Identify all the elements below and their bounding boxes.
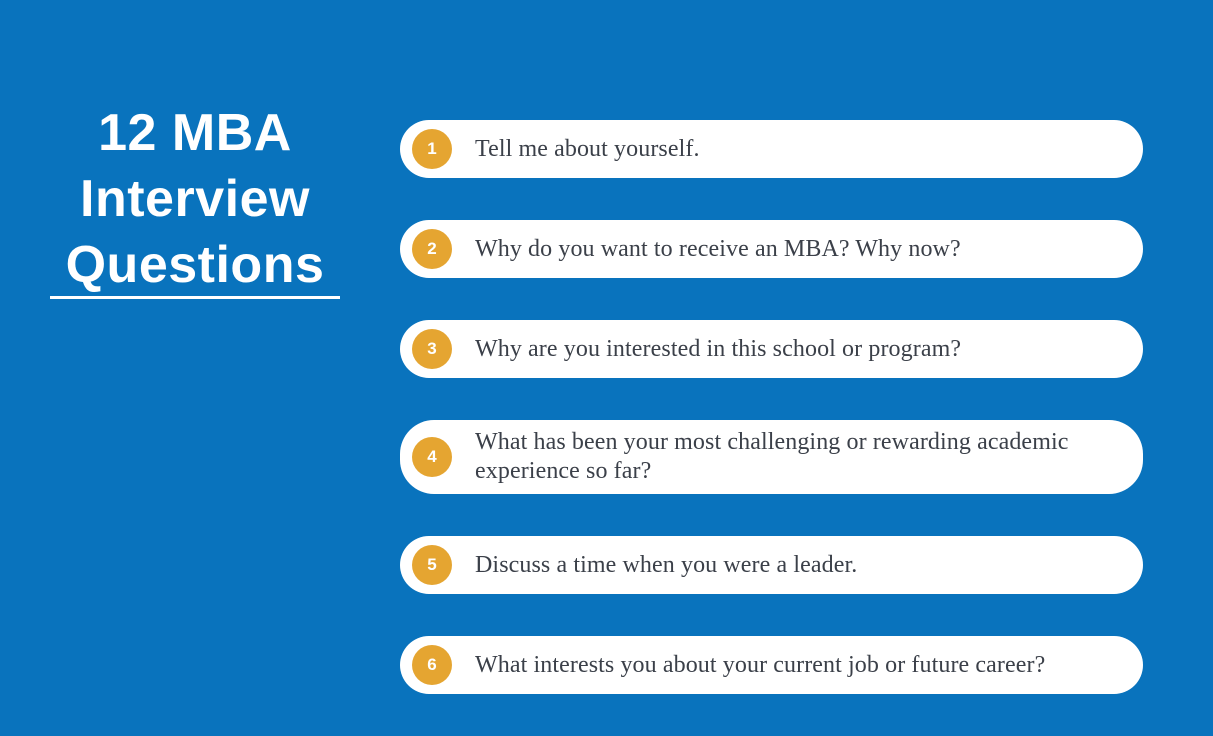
question-number-badge: 4 — [412, 437, 452, 477]
question-number-badge: 2 — [412, 229, 452, 269]
question-text: What interests you about your current jo… — [475, 651, 1109, 680]
question-text: Tell me about yourself. — [475, 135, 1109, 164]
question-card[interactable]: 1 Tell me about yourself. — [400, 120, 1143, 178]
title-block: 12 MBA Interview Questions — [50, 100, 340, 298]
page-title: 12 MBA Interview Questions — [50, 100, 340, 298]
question-card[interactable]: 3 Why are you interested in this school … — [400, 320, 1143, 378]
question-card[interactable]: 2 Why do you want to receive an MBA? Why… — [400, 220, 1143, 278]
question-text: Discuss a time when you were a leader. — [475, 551, 1109, 580]
question-number-badge: 3 — [412, 329, 452, 369]
title-underline-rule — [50, 296, 340, 299]
question-card[interactable]: 6 What interests you about your current … — [400, 636, 1143, 694]
question-list: 1 Tell me about yourself. 2 Why do you w… — [400, 120, 1143, 736]
question-card[interactable]: 4 What has been your most challenging or… — [400, 420, 1143, 494]
question-number-badge: 1 — [412, 129, 452, 169]
slide-canvas: 12 MBA Interview Questions 1 Tell me abo… — [0, 0, 1213, 700]
question-card[interactable]: 5 Discuss a time when you were a leader. — [400, 536, 1143, 594]
question-text: Why do you want to receive an MBA? Why n… — [475, 235, 1109, 264]
question-number-badge: 6 — [412, 645, 452, 685]
question-text: What has been your most challenging or r… — [475, 428, 1109, 486]
question-text: Why are you interested in this school or… — [475, 335, 1109, 364]
question-number-badge: 5 — [412, 545, 452, 585]
